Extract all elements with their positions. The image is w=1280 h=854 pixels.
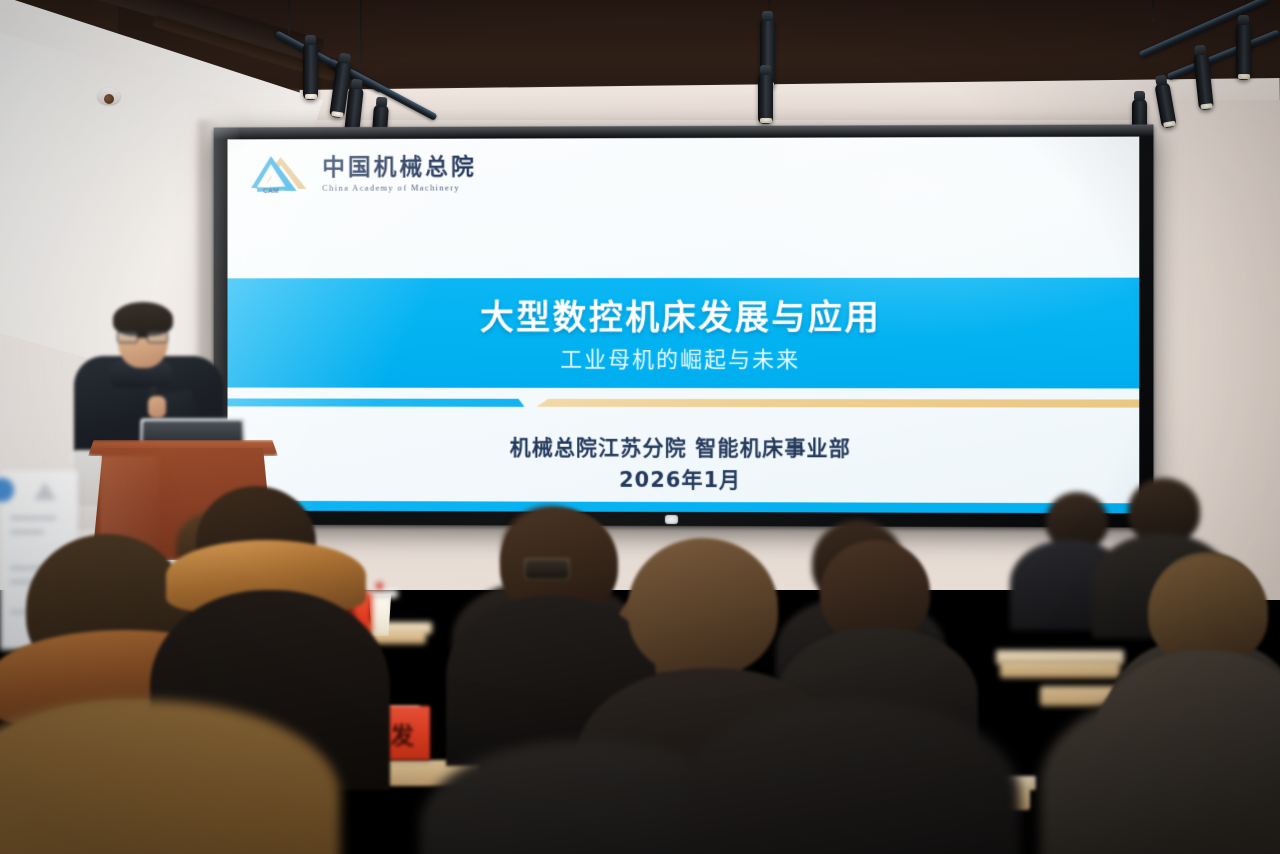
presenter-hand	[148, 396, 166, 418]
spotlight-icon	[1236, 22, 1251, 80]
presentation-slide: CAM 中国机械总院 China Academy of Machinery 大型…	[227, 137, 1139, 514]
organization-logo: CAM 中国机械总院 China Academy of Machinery	[251, 155, 477, 195]
slide-footer-department: 机械总院江苏分院 智能机床事业部	[227, 431, 1139, 463]
banner-circle-icon	[0, 478, 14, 502]
logo-text-block: 中国机械总院 China Academy of Machinery	[322, 157, 477, 193]
logo-english-name: China Academy of Machinery	[322, 182, 477, 192]
slide-decorative-stripe	[227, 395, 1139, 410]
security-camera-icon	[98, 88, 120, 104]
svg-text:CAM: CAM	[263, 188, 279, 195]
camera-lens-icon	[104, 94, 114, 104]
cup-straw-icon	[376, 582, 383, 590]
screen-brand-badge-icon	[665, 515, 678, 524]
slide-title-band: 大型数控机床发展与应用 工业母机的崛起与未来	[227, 278, 1139, 389]
hair-clip-icon	[524, 558, 570, 580]
cam-mountain-logo-icon: CAM	[251, 155, 312, 195]
audience-shoulders	[1040, 690, 1280, 854]
slide-footer-date: 2026年1月	[227, 463, 1139, 495]
laptop-screen	[143, 421, 243, 443]
presentation-room-scene: CAM 中国机械总院 China Academy of Machinery 大型…	[0, 0, 1280, 854]
slide-bottom-band	[227, 501, 1139, 514]
banner-triangle-icon	[34, 482, 56, 500]
slide-sub-title: 工业母机的崛起与未来	[227, 342, 1139, 374]
projection-screen[interactable]: CAM 中国机械总院 China Academy of Machinery 大型…	[214, 124, 1154, 527]
slide-main-title: 大型数控机床发展与应用	[227, 290, 1139, 339]
audience-head	[628, 538, 778, 676]
desk-edge-back-right	[996, 650, 1124, 664]
presenter-glasses-icon	[116, 331, 170, 343]
stripe-segment-blue	[227, 398, 524, 406]
logo-chinese-name: 中国机械总院	[322, 157, 477, 180]
stripe-segment-gold	[536, 399, 1139, 408]
spotlight-icon	[303, 42, 318, 100]
